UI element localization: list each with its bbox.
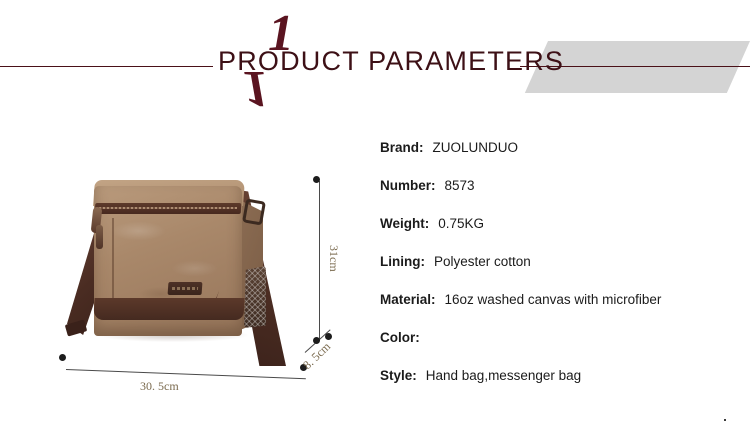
zipper-pull-secondary <box>96 225 103 249</box>
strap-anchor-ring <box>242 198 266 225</box>
image-artifact-speck <box>724 419 726 421</box>
spec-label-lining: Lining: <box>380 254 425 269</box>
depth-endpoint-top <box>325 333 332 340</box>
spec-value-weight: 0.75KG <box>429 216 484 231</box>
product-photo <box>40 150 340 400</box>
spec-value-style: Hand bag,messenger bag <box>417 368 581 383</box>
spec-value-lining: Polyester cotton <box>425 254 531 269</box>
messenger-bag-illustration <box>68 170 278 355</box>
spec-value-number: 8573 <box>436 178 475 193</box>
page-header: 1 1 PRODUCT PARAMETERS <box>0 0 750 120</box>
spec-label-material: Material: <box>380 292 436 307</box>
spec-row-color: Color: <box>380 330 730 368</box>
width-endpoint-left <box>59 354 66 361</box>
spec-row-weight: Weight: 0.75KG <box>380 216 730 254</box>
brand-patch <box>168 282 203 295</box>
spec-label-number: Number: <box>380 178 436 193</box>
spec-label-color: Color: <box>380 330 420 345</box>
product-parameters-page: 1 1 PRODUCT PARAMETERS <box>0 0 750 439</box>
mesh-side-pocket <box>244 266 266 328</box>
specification-list: Brand: ZUOLUNDUO Number: 8573 Weight: 0.… <box>380 140 730 406</box>
flap-leather-trim <box>93 298 244 320</box>
spec-label-style: Style: <box>380 368 417 383</box>
spec-value-brand: ZUOLUNDUO <box>424 140 519 155</box>
spec-label-weight: Weight: <box>380 216 429 231</box>
spec-row-material: Material: 16oz washed canvas with microf… <box>380 292 730 330</box>
spec-row-brand: Brand: ZUOLUNDUO <box>380 140 730 178</box>
width-dimension-label: 30. 5cm <box>140 379 179 394</box>
height-dimension-line <box>319 181 320 341</box>
front-zipper-band <box>95 203 242 214</box>
spec-label-brand: Brand: <box>380 140 424 155</box>
header-rule-left <box>0 66 213 67</box>
spec-row-number: Number: 8573 <box>380 178 730 216</box>
spec-row-lining: Lining: Polyester cotton <box>380 254 730 292</box>
spec-row-style: Style: Hand bag,messenger bag <box>380 368 730 406</box>
height-dimension-label: 31cm <box>326 245 341 272</box>
page-title: PRODUCT PARAMETERS <box>218 46 564 77</box>
spec-value-material: 16oz washed canvas with microfiber <box>436 292 662 307</box>
height-endpoint-top <box>313 176 320 183</box>
height-endpoint-bottom <box>313 337 320 344</box>
